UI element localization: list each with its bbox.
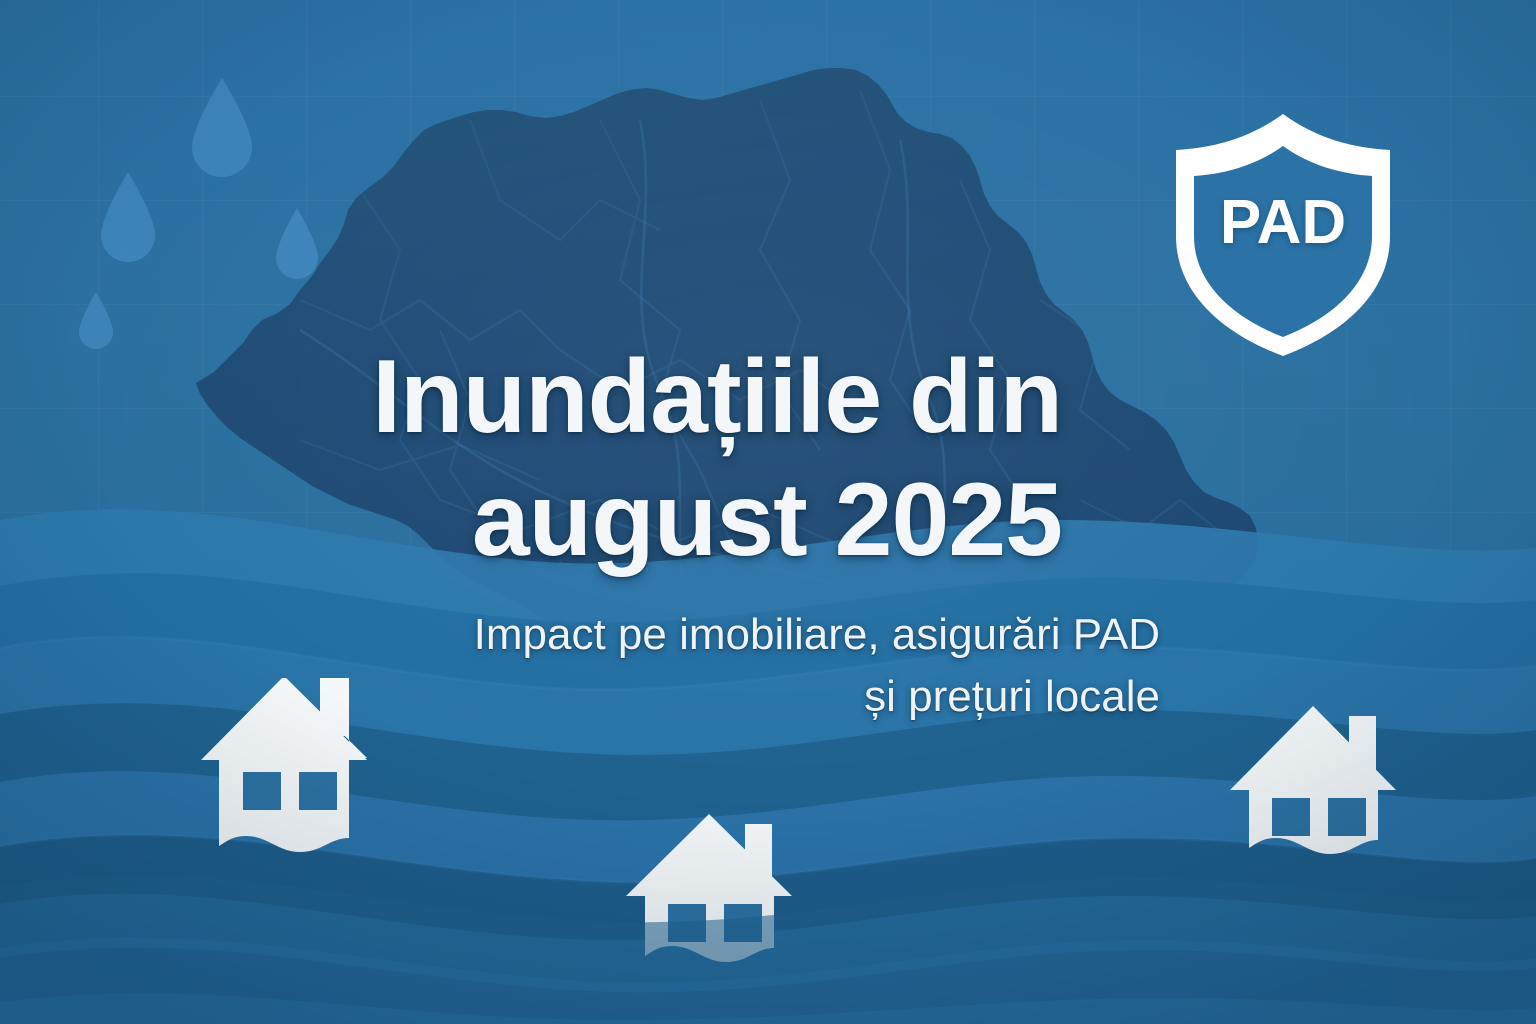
page-title: Inundațiile din august 2025 — [0, 336, 1062, 581]
pad-badge-label: PAD — [1166, 192, 1400, 254]
poster-canvas: Inundațiile din august 2025 Impact pe im… — [0, 0, 1536, 1024]
page-subtitle: Impact pe imobiliare, asigurări PAD și p… — [0, 604, 1160, 729]
pad-badge[interactable]: PAD — [1166, 106, 1400, 360]
